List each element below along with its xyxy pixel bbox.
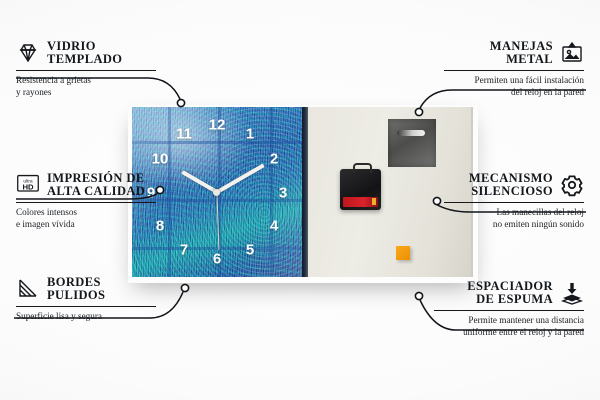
feature-desc-line1: Resistencia a grietas bbox=[16, 75, 91, 85]
feature-desc-line2: del reloj en la pared bbox=[511, 87, 584, 97]
feature-title: ESPACIADOR DE ESPUMA bbox=[467, 280, 553, 306]
feature-title-line2: ALTA CALIDAD bbox=[47, 184, 145, 198]
clock-numeral-10: 10 bbox=[152, 152, 169, 167]
feature-desc-line1: Colores intensos bbox=[16, 207, 77, 217]
metal-hanger-plate bbox=[388, 119, 436, 167]
clock-numeral-12: 12 bbox=[209, 118, 226, 133]
feature-desc-line1: Permiten una fácil instalación bbox=[475, 75, 584, 85]
product-photo: 12 1 2 3 4 5 6 7 8 9 10 11 bbox=[132, 107, 471, 277]
feature-title: VIDRIO TEMPLADO bbox=[47, 40, 122, 66]
clock-numeral-11: 11 bbox=[176, 127, 192, 142]
feature-manejas-metal[interactable]: MANEJAS METAL Permiten una fácil instala… bbox=[434, 40, 584, 98]
connector-dot-bordes bbox=[181, 284, 188, 291]
ultra-hd-icon: ultra HD bbox=[16, 173, 40, 197]
feature-bordes-pulidos[interactable]: BORDES PULIDOS Superficie lisa y segura bbox=[16, 276, 166, 323]
clock-numeral-5: 5 bbox=[246, 243, 254, 258]
feature-title: MANEJAS METAL bbox=[490, 40, 553, 66]
feature-desc-line2: e imagen vívida bbox=[16, 219, 75, 229]
feature-desc-line1: Las manecillas del reloj bbox=[496, 207, 584, 217]
feature-header: ultra HD IMPRESIÓN DE ALTA CALIDAD bbox=[16, 172, 166, 198]
clock-grid-line bbox=[132, 141, 302, 144]
feature-desc-line2: uniforme entre el reloj y la pared bbox=[463, 327, 584, 337]
feature-vidrio-templado[interactable]: VIDRIO TEMPLADO Resistencia a grietas y … bbox=[16, 40, 166, 98]
feature-desc-line2: y rayones bbox=[16, 87, 51, 97]
feature-title-line1: ESPACIADOR bbox=[467, 279, 553, 293]
infographic-canvas: 12 1 2 3 4 5 6 7 8 9 10 11 bbox=[0, 0, 600, 400]
diamond-icon bbox=[16, 41, 40, 65]
feature-title-line1: VIDRIO bbox=[47, 39, 96, 53]
feature-title-line1: MANEJAS bbox=[490, 39, 553, 53]
feature-header: MECANISMO SILENCIOSO bbox=[434, 172, 584, 198]
feature-rule bbox=[16, 70, 156, 71]
foam-spacer-icon bbox=[560, 281, 584, 305]
battery bbox=[343, 197, 378, 207]
feature-title-line2: SILENCIOSO bbox=[471, 184, 553, 198]
feature-description: Permiten una fácil instalación del reloj… bbox=[434, 75, 584, 98]
feature-header: BORDES PULIDOS bbox=[16, 276, 166, 302]
clock-numeral-4: 4 bbox=[270, 219, 278, 234]
feature-title-line1: MECANISMO bbox=[469, 171, 553, 185]
clock-numeral-3: 3 bbox=[279, 186, 287, 201]
clock-numeral-1: 1 bbox=[246, 127, 254, 142]
polished-edge-icon bbox=[16, 277, 40, 301]
feature-header: ESPACIADOR DE ESPUMA bbox=[424, 280, 584, 306]
clock-mechanism bbox=[340, 169, 381, 210]
feature-description: Permite mantener una distancia uniforme … bbox=[424, 315, 584, 338]
hanging-frame-icon bbox=[560, 41, 584, 65]
feature-desc-line2: no emiten ningún sonido bbox=[493, 219, 584, 229]
feature-title-line1: IMPRESIÓN DE bbox=[47, 171, 145, 185]
hanger-slot bbox=[397, 130, 425, 136]
feature-description: Colores intensos e imagen vívida bbox=[16, 207, 166, 230]
feature-description: Resistencia a grietas y rayones bbox=[16, 75, 166, 98]
feature-desc-line1: Permite mantener una distancia bbox=[468, 315, 584, 325]
feature-desc-line1: Superficie lisa y segura bbox=[16, 311, 102, 321]
feature-description: Las manecillas del reloj no emiten ningú… bbox=[434, 207, 584, 230]
feature-impresion-alta-calidad[interactable]: ultra HD IMPRESIÓN DE ALTA CALIDAD Color… bbox=[16, 172, 166, 230]
feature-title-line2: DE ESPUMA bbox=[476, 292, 553, 306]
feature-rule bbox=[444, 70, 584, 71]
clock-grid-line bbox=[168, 107, 171, 277]
feature-rule bbox=[434, 310, 584, 311]
gear-icon bbox=[560, 173, 584, 197]
ultra-hd-main-text: HD bbox=[22, 182, 34, 191]
feature-rule bbox=[16, 306, 156, 307]
clock-numeral-7: 7 bbox=[180, 243, 188, 258]
feature-espaciador-espuma[interactable]: ESPACIADOR DE ESPUMA Permite mantener un… bbox=[424, 280, 584, 338]
feature-mecanismo-silencioso[interactable]: MECANISMO SILENCIOSO Las manecillas del … bbox=[434, 172, 584, 230]
feature-rule bbox=[16, 202, 156, 203]
feature-header: MANEJAS METAL bbox=[434, 40, 584, 66]
clock-grid-line bbox=[270, 107, 273, 277]
foam-spacer bbox=[396, 246, 410, 260]
connector-dot-espaciador bbox=[415, 292, 422, 299]
clock-numeral-6: 6 bbox=[213, 252, 221, 267]
feature-title-line2: METAL bbox=[506, 52, 553, 66]
feature-header: VIDRIO TEMPLADO bbox=[16, 40, 166, 66]
clock-numeral-2: 2 bbox=[270, 152, 278, 167]
mechanism-hook bbox=[353, 163, 372, 173]
feature-rule bbox=[444, 202, 584, 203]
feature-title: IMPRESIÓN DE ALTA CALIDAD bbox=[47, 172, 145, 198]
feature-title-line2: TEMPLADO bbox=[47, 52, 122, 66]
feature-title: MECANISMO SILENCIOSO bbox=[469, 172, 553, 198]
feature-description: Superficie lisa y segura bbox=[16, 311, 166, 323]
clock-center-pin bbox=[213, 189, 220, 196]
feature-title: BORDES PULIDOS bbox=[47, 276, 105, 302]
feature-title-line1: BORDES bbox=[47, 275, 101, 289]
feature-title-line2: PULIDOS bbox=[47, 288, 105, 302]
